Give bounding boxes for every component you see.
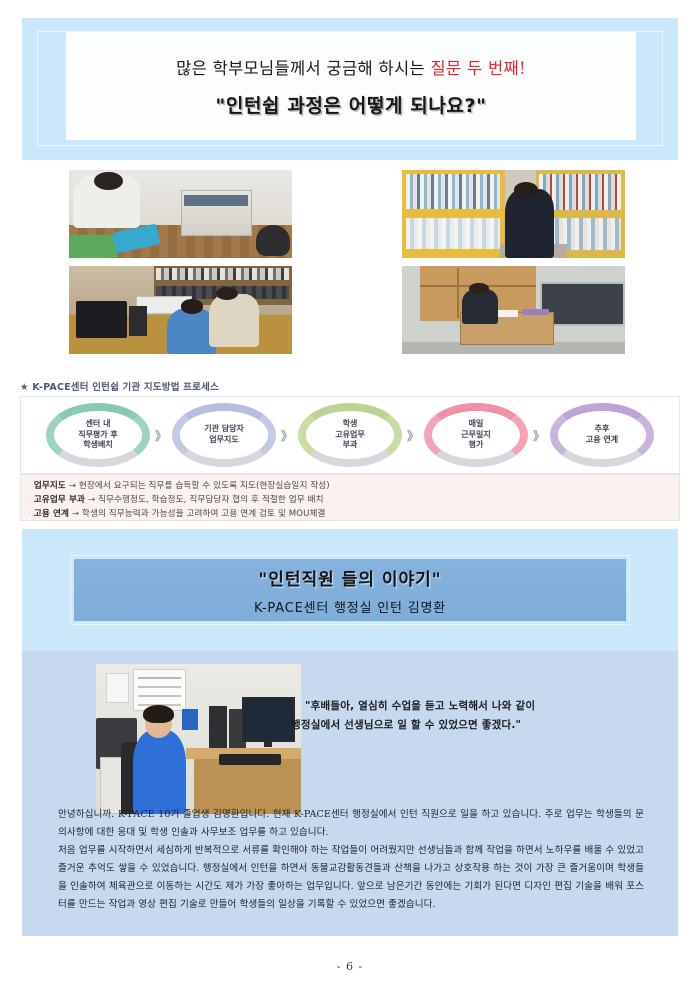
process-step-label-4: 매일 근무일지 평가 bbox=[461, 419, 490, 451]
headline-white-panel: 많은 학부모님들께서 궁금해 하시는 질문 두 번째! "인턴쉽 과정은 어떻게… bbox=[66, 32, 636, 140]
note-bullet-1: · bbox=[28, 481, 31, 491]
process-step-5: 추후 고용 연계 bbox=[550, 403, 654, 467]
photo4-person bbox=[462, 289, 498, 324]
headline-band: 많은 학부모님들께서 궁금해 하시는 질문 두 번째! "인턴쉽 과정은 어떻게… bbox=[22, 18, 678, 160]
interview-quote: "후배들아, 열심히 수업을 듣고 노력해서 나와 같이 행정실에서 선생님으로… bbox=[305, 697, 635, 736]
interview-paragraph-1: 안녕하십니까. K-PACE 10기 졸업생 김명환입니다. 현재 K-PACE… bbox=[58, 806, 644, 842]
newsletter-page: 많은 학부모님들께서 궁금해 하시는 질문 두 번째! "인턴쉽 과정은 어떻게… bbox=[0, 0, 700, 991]
photo1-head bbox=[94, 172, 123, 190]
process-diagram: 센터 내 직무평가 후 학생배치 》 기관 담당자 업무지도 》 학생 고유업무… bbox=[20, 396, 680, 474]
note-rest-1: → 현장에서 요구되는 직무를 습득할 수 있도록 지도(현장실습일지 작성) bbox=[66, 481, 330, 491]
headline-intro-text: 많은 학부모님들께서 궁금해 하시는 bbox=[176, 59, 430, 78]
process-step-3: 학생 고유업무 부과 bbox=[298, 403, 402, 467]
photo2-monitor bbox=[76, 301, 127, 338]
process-notes: ·업무지도 → 현장에서 요구되는 직무를 습득할 수 있도록 지도(현장실습일… bbox=[20, 474, 680, 521]
intern-photo-person-hair bbox=[143, 705, 174, 723]
photo-library-shelves bbox=[402, 170, 625, 258]
photo-desk-paperwork bbox=[402, 266, 625, 354]
photo-office-desk-training bbox=[69, 266, 292, 354]
interview-paragraph-2: 처음 업무를 시작하면서 세심하게 반복적으로 서류를 확인해야 하는 작업들이… bbox=[58, 842, 644, 914]
page-number: - 6 - bbox=[0, 960, 700, 973]
process-step-4: 매일 근무일지 평가 bbox=[424, 403, 528, 467]
process-note-3: ·고용 연계 → 학생의 직무능력과 가능성을 고려하여 고용 연계 검토 및 … bbox=[28, 508, 679, 522]
intern-photo-monitor bbox=[242, 697, 295, 742]
intern-photo-pc-tower bbox=[209, 706, 227, 748]
photo-grid bbox=[0, 168, 700, 360]
story-blue-panel: "인턴직원 들의 이야기" K-PACE센터 행정실 인턴 김명환 bbox=[74, 559, 626, 621]
process-step-2: 기관 담당자 업무지도 bbox=[172, 403, 276, 467]
story-title: "인턴직원 들의 이야기" bbox=[258, 565, 441, 590]
photo4-folder bbox=[522, 309, 549, 315]
note-term-3: 고용 연계 bbox=[34, 509, 69, 519]
headline-main-question: "인턴쉽 과정은 어떻게 되나요?" bbox=[215, 91, 486, 118]
note-term-2: 고유업무 부과 bbox=[34, 495, 85, 505]
intern-photo-notice bbox=[106, 673, 129, 703]
photo1-green-mat bbox=[69, 235, 118, 258]
photo1-machine bbox=[181, 190, 252, 236]
process-note-1: ·업무지도 → 현장에서 요구되는 직무를 습득할 수 있도록 지도(현장실습일… bbox=[28, 480, 679, 494]
headline-question-intro: 많은 학부모님들께서 궁금해 하시는 질문 두 번째! bbox=[176, 55, 526, 79]
photo-intern-kim-myunghwan bbox=[96, 664, 301, 814]
process-step-label-2: 기관 담당자 업무지도 bbox=[204, 424, 244, 446]
photo1-chair bbox=[256, 225, 289, 257]
photo2-pc-tower bbox=[129, 306, 147, 336]
photo3-person bbox=[505, 189, 554, 258]
headline-accent-text: 질문 두 번째! bbox=[430, 59, 525, 78]
note-term-1: 업무지도 bbox=[34, 481, 66, 491]
note-bullet-3: · bbox=[28, 509, 31, 519]
process-section-title: ★ K-PACE센터 인턴쉽 기관 지도방법 프로세스 bbox=[20, 379, 219, 393]
intern-photo-keyboard bbox=[219, 754, 281, 765]
process-arrow-icon-2: 》 bbox=[276, 427, 298, 444]
photo2-head-seated bbox=[181, 299, 203, 313]
photo4-head bbox=[469, 283, 489, 294]
intern-photo-person-body bbox=[133, 730, 186, 814]
interview-body: 안녕하십니까. K-PACE 10기 졸업생 김명환입니다. 현재 K-PACE… bbox=[58, 806, 644, 914]
process-arrow-icon-3: 》 bbox=[402, 427, 424, 444]
process-note-2: ·고유업무 부과 → 직무수행정도, 학습정도, 직무담당자 협의 후 적절한 … bbox=[28, 494, 679, 508]
story-subtitle: K-PACE센터 행정실 인턴 김명환 bbox=[254, 597, 446, 616]
intern-photo-box bbox=[182, 709, 198, 730]
note-rest-2: → 직무수행정도, 학습정도, 직무담당자 협의 후 적절한 업무 배치 bbox=[85, 495, 324, 505]
photo3-head bbox=[514, 182, 539, 198]
story-band: "인턴직원 들의 이야기" K-PACE센터 행정실 인턴 김명환 bbox=[22, 529, 678, 651]
photo2-person-standing bbox=[209, 294, 258, 347]
photo3-shelf-left bbox=[402, 170, 505, 258]
process-step-row: 센터 내 직무평가 후 학생배치 》 기관 담당자 업무지도 》 학생 고유업무… bbox=[21, 397, 679, 473]
process-step-label-5: 추후 고용 연계 bbox=[586, 424, 618, 446]
process-step-label-1: 센터 내 직무평가 후 학생배치 bbox=[78, 419, 118, 451]
process-arrow-icon-4: 》 bbox=[528, 427, 550, 444]
process-step-1: 센터 내 직무평가 후 학생배치 bbox=[46, 403, 150, 467]
note-rest-3: → 학생의 직무능력과 가능성을 고려하여 고용 연계 검토 및 MOU체결 bbox=[69, 509, 326, 519]
note-bullet-2: · bbox=[28, 495, 31, 505]
story-inner-frame: "인턴직원 들의 이야기" K-PACE센터 행정실 인턴 김명환 bbox=[70, 555, 630, 625]
photo-shredder-room bbox=[69, 170, 292, 258]
interview-quote-line-1: "후배들아, 열심히 수업을 듣고 노력해서 나와 같이 bbox=[305, 697, 635, 716]
process-step-label-3: 학생 고유업무 부과 bbox=[335, 419, 364, 451]
interview-quote-line-2: 행정실에서 선생님으로 일 할 수 있었으면 좋겠다." bbox=[291, 716, 635, 735]
process-arrow-icon-1: 》 bbox=[150, 427, 172, 444]
